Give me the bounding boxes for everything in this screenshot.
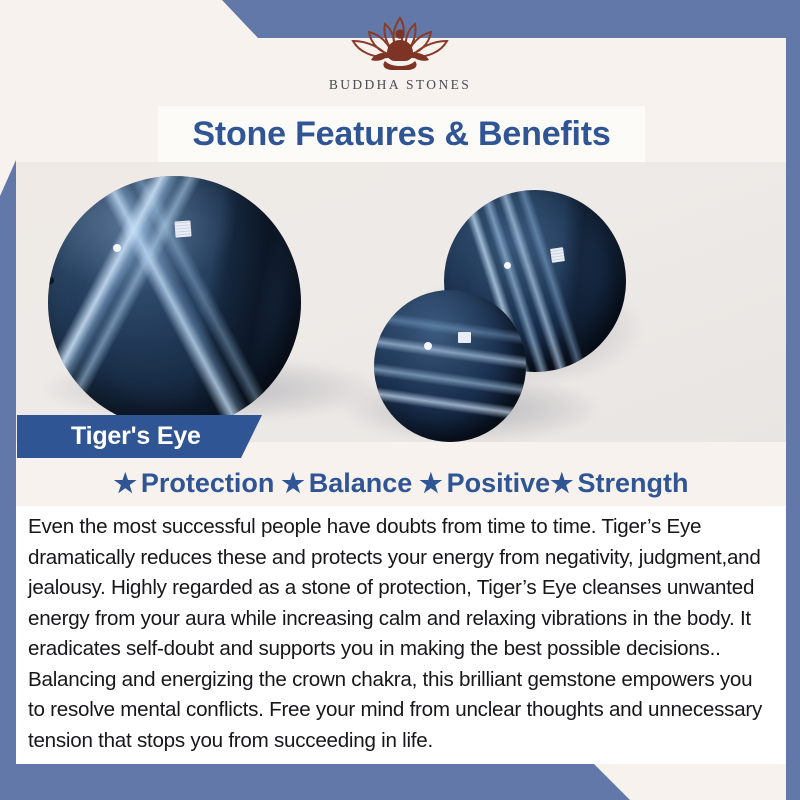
sphere-small-spot-highlight xyxy=(424,342,432,350)
stone-name-label: Tiger's Eye xyxy=(17,422,201,451)
star-icon: ★ xyxy=(114,468,137,499)
sphere-large-highlight xyxy=(174,220,191,237)
sphere-medium-highlight xyxy=(550,247,565,263)
sphere-large-gloss xyxy=(48,176,301,429)
stone-photo xyxy=(16,162,786,442)
frame-right-band xyxy=(786,0,800,800)
title-banner: Stone Features & Benefits xyxy=(158,106,645,162)
benefit-label: Strength xyxy=(577,468,688,499)
brand-logo: BUDDHA STONES xyxy=(0,8,800,93)
sphere-small xyxy=(374,290,526,442)
stone-name-banner: Tiger's Eye xyxy=(17,415,262,458)
description-card: Even the most successful people have dou… xyxy=(16,506,786,764)
sphere-small-highlight xyxy=(458,332,471,343)
frame-left-band xyxy=(0,160,16,800)
sphere-large xyxy=(48,176,301,429)
star-icon: ★ xyxy=(281,468,304,499)
star-icon: ★ xyxy=(419,468,442,499)
frame-bottom-left-band xyxy=(0,764,800,800)
sphere-large-spot-highlight xyxy=(113,244,121,252)
benefits-row: ★ Protection ★ Balance ★ Positive ★ Stre… xyxy=(16,462,786,504)
benefit-item: ★ Balance xyxy=(281,468,412,499)
benefit-label: Balance xyxy=(309,468,413,499)
sphere-small-chatoyancy xyxy=(374,290,526,442)
brand-name: BUDDHA STONES xyxy=(329,77,471,93)
benefit-label: Protection xyxy=(141,468,275,499)
benefit-item: ★ Strength xyxy=(550,468,688,499)
benefit-label: Positive xyxy=(447,468,551,499)
stone-photo-canvas xyxy=(16,162,786,442)
benefit-item: ★ Protection xyxy=(114,468,275,499)
benefit-item: ★ Positive xyxy=(419,468,550,499)
description-text: Even the most successful people have dou… xyxy=(28,512,774,756)
page-title: Stone Features & Benefits xyxy=(192,115,610,154)
lotus-meditation-icon xyxy=(325,8,475,76)
star-icon: ★ xyxy=(550,468,573,499)
sphere-medium-spot-highlight xyxy=(504,262,511,269)
